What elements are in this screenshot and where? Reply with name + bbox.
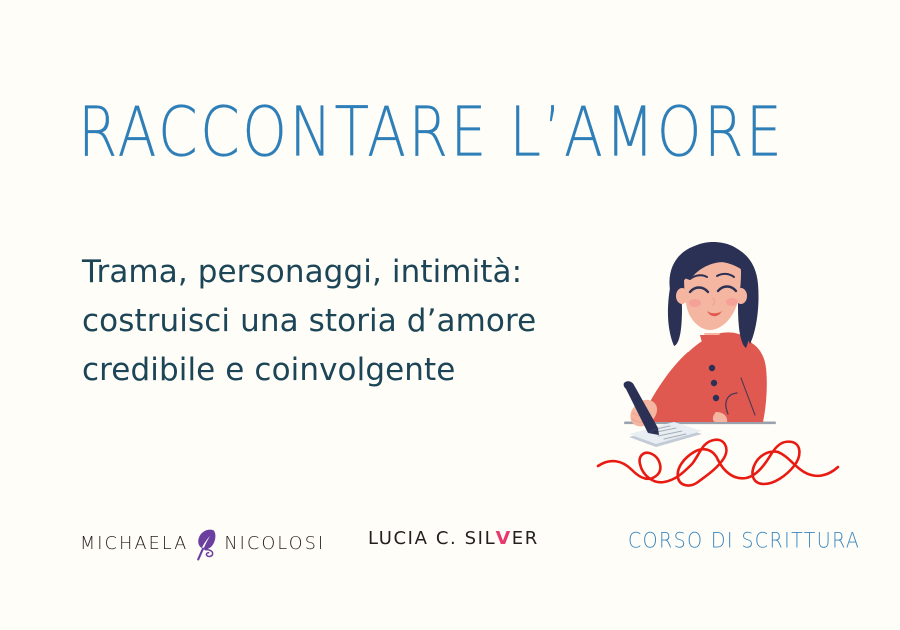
lucia-logo-text-after: ER [512,528,539,549]
hearts-doodle [598,440,838,486]
blouse-button-1 [709,365,715,371]
poster-canvas: RACCONTARE L’AMORE Trama, personaggi, in… [0,0,900,630]
woman-writing-illustration [596,232,846,502]
subtitle-block: Trama, personaggi, intimità: costruisci … [82,248,602,395]
subtitle-line-2: costruisci una storia d’amore [82,297,602,346]
lucia-silver-logo[interactable]: LUCIA C. SILVER [368,528,539,549]
subtitle-line-3: credibile e coinvolgente [82,346,602,395]
footer: MICHAELA NICOLOSI LUCIA C. SILVER CORSO … [0,515,900,575]
michaela-logo-word-left: MICHAELA [80,534,188,554]
blouse-button-3 [713,395,719,401]
corso-di-scrittura-label: CORSO DI SCRITTURA [628,529,860,553]
michaela-nicolosi-logo[interactable]: MICHAELA NICOLOSI [80,527,325,561]
blouse-button-2 [711,380,717,386]
lucia-logo-accent-letter: V [496,528,512,549]
page-title: RACCONTARE L’AMORE [78,92,784,172]
michaela-logo-word-right: NICOLOSI [224,534,325,554]
lucia-logo-text-before: LUCIA C. SIL [368,528,496,549]
quill-feather-icon [194,527,220,561]
subtitle-line-1: Trama, personaggi, intimità: [82,248,602,297]
